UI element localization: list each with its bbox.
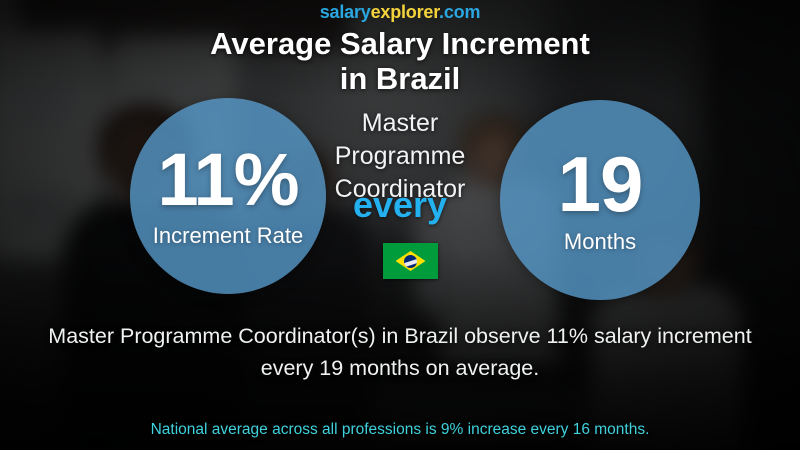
logo-text-explorer: explorer	[371, 2, 439, 22]
infographic-content: salaryexplorer.com Average Salary Increm…	[0, 0, 800, 450]
page-title-line-1: Average Salary Increment	[100, 26, 700, 61]
frequency-value: 19	[558, 145, 643, 223]
connector-label: every	[300, 185, 500, 225]
increment-rate-badge: 11% Increment Rate	[130, 98, 326, 294]
frequency-caption: Months	[564, 229, 636, 255]
salary-increment-infographic: salaryexplorer.com Average Salary Increm…	[0, 0, 800, 450]
flag-band	[404, 258, 417, 268]
page-title-line-2: in Brazil	[100, 61, 700, 96]
increment-rate-caption: Increment Rate	[153, 223, 303, 249]
increment-rate-value: 11%	[157, 143, 298, 217]
logo-text-domain: .com	[439, 2, 480, 22]
site-logo[interactable]: salaryexplorer.com	[0, 2, 800, 22]
summary-text: Master Programme Coordinator(s) in Brazi…	[20, 320, 780, 384]
national-average-footnote: National average across all professions …	[20, 420, 780, 440]
frequency-badge: 19 Months	[500, 100, 700, 300]
brazil-flag-icon	[383, 243, 438, 279]
logo-text-salary: salary	[320, 2, 371, 22]
page-title: Average Salary Increment in Brazil	[100, 26, 700, 96]
flag-globe	[404, 255, 417, 268]
